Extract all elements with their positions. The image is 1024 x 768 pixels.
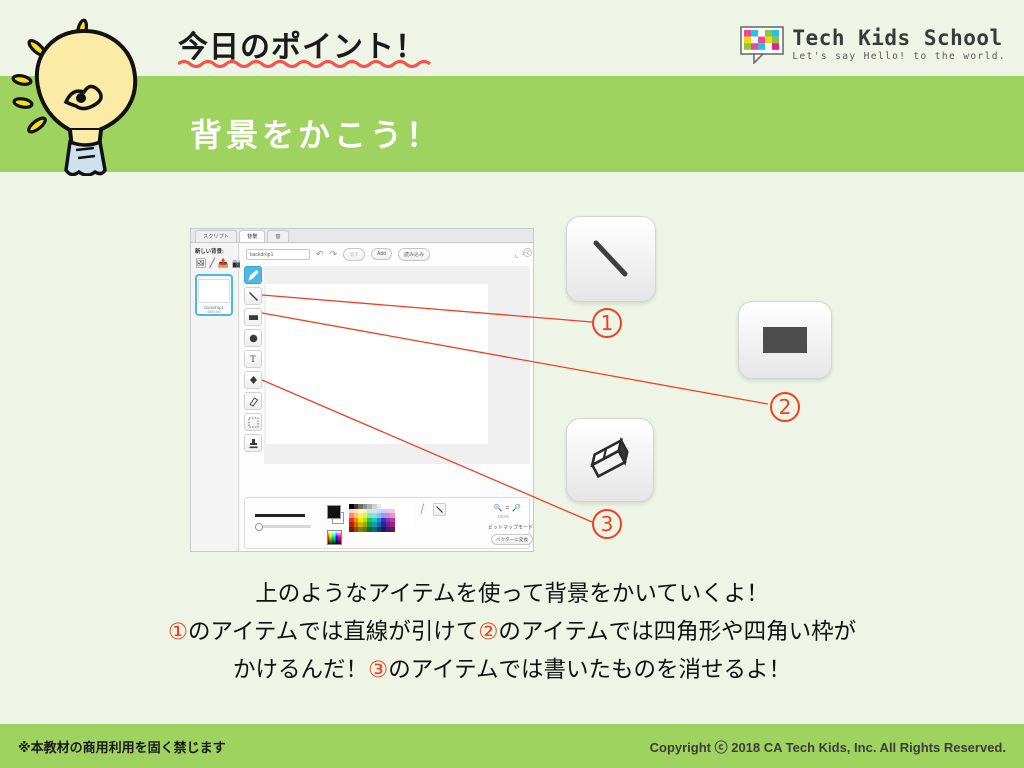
color-picker-gradient[interactable] <box>327 530 342 545</box>
costume-name-input[interactable]: backdrop1 <box>246 249 310 260</box>
line-tool-icon <box>583 231 639 287</box>
scratch-tab-row: スクリプト 背景 音 <box>191 229 533 243</box>
new-backdrop-icon-row: 🖼 ╱ 📤 📷 <box>195 258 234 269</box>
thumbnail-image <box>198 279 230 303</box>
flip-horizontal-icon[interactable]: ◟ <box>515 250 518 259</box>
undo-icon[interactable]: ↶ <box>316 249 324 260</box>
clear-button[interactable]: 消す <box>343 248 365 261</box>
line-style-button[interactable] <box>433 503 446 516</box>
footer-band: ※本教材の商用利用を固く禁じます Copyright ⓒ 2018 CA Tec… <box>0 724 1024 768</box>
slide-heading: 背景をかこう！ <box>190 110 442 156</box>
bitmap-mode-label: ビットマップモード <box>488 524 533 531</box>
thumbnail-size: 480x360 <box>207 310 221 314</box>
tab-sounds[interactable]: 音 <box>267 230 288 242</box>
paint-editor-pane: ? backdrop1 ↶ ↷ 消す Add 読み込み ◟ ◠ <box>240 244 534 552</box>
eyedropper-icon[interactable]: ╱ <box>419 503 431 515</box>
rectangle-tool-icon <box>755 318 815 362</box>
stroke-preview <box>255 514 305 517</box>
zoom-reset-icon[interactable]: = <box>505 505 509 512</box>
body-ref-2: ② <box>478 619 498 644</box>
stroke-width-control[interactable] <box>255 514 311 528</box>
brush-tool[interactable] <box>244 266 262 284</box>
tab-scripts[interactable]: スクリプト <box>195 230 237 242</box>
upload-icon[interactable]: 📤 <box>218 258 229 269</box>
callout-number-1: 1 <box>592 308 622 338</box>
paint-bottom-bar: ╱ 🔍 = 🔎 100% ビットマップモード ベクターに変換 <box>244 497 530 549</box>
callout-card-line-tool <box>566 216 656 302</box>
stroke-slider[interactable] <box>255 525 311 528</box>
redo-icon[interactable]: ↷ <box>330 249 338 260</box>
line-tool[interactable] <box>244 287 262 305</box>
body-line-2-d: のアイテムでは四角形や四角い枠が <box>498 619 856 644</box>
help-icon[interactable]: ? <box>523 248 532 257</box>
paint-canvas[interactable] <box>266 284 488 444</box>
body-line-3: かけるんだ！③のアイテムでは書いたものを消せるよ！ <box>0 651 1024 689</box>
add-button[interactable]: Add <box>371 248 392 260</box>
zoom-out-icon[interactable]: 🔍 <box>493 504 502 512</box>
paint-icon[interactable]: ╱ <box>209 258 214 269</box>
brand-logo: Tech Kids School Let's say Hello! to the… <box>740 26 1006 64</box>
body-line-2-b: のアイテムでは直線が引けて <box>188 619 478 644</box>
ellipse-tool[interactable] <box>244 329 262 347</box>
tool-palette: T <box>244 266 262 452</box>
callout-number-3: 3 <box>592 509 622 539</box>
rectangle-tool[interactable] <box>244 308 262 326</box>
zoom-in-icon[interactable]: 🔎 <box>512 504 521 512</box>
speech-bubble-pixel-icon <box>740 26 784 64</box>
body-line-1: 上のようなアイテムを使って背景をかいていくよ！ <box>0 575 1024 613</box>
fill-tool[interactable] <box>244 371 262 389</box>
callout-card-eraser-tool <box>566 418 654 502</box>
text-tool[interactable]: T <box>244 350 262 368</box>
logo-tagline: Let's say Hello! to the world. <box>792 52 1006 62</box>
title-underline-wave <box>178 58 432 68</box>
scratch-paint-editor-screenshot: スクリプト 背景 音 新しい背景: 🖼 ╱ 📤 📷 1 backdrop1 48… <box>190 228 534 552</box>
footer-copyright: Copyright ⓒ 2018 CA Tech Kids, Inc. All … <box>650 737 1006 756</box>
callout-number-2: 2 <box>770 392 800 422</box>
thumbnail-index: 1 <box>199 276 201 280</box>
footer-notice: ※本教材の商用利用を固く禁じます <box>18 737 226 756</box>
stamp-tool[interactable] <box>244 434 262 452</box>
select-tool[interactable] <box>244 413 262 431</box>
backdrop-thumbnail[interactable]: 1 backdrop1 480x360 <box>195 274 233 316</box>
logo-name: Tech Kids School <box>792 28 1006 49</box>
paint-toolbar: backdrop1 ↶ ↷ 消す Add 読み込み ◟ ◠ <box>240 244 534 264</box>
primary-color-swatch[interactable] <box>327 505 341 519</box>
backdrop-list-pane: 新しい背景: 🖼 ╱ 📤 📷 1 backdrop1 480x360 <box>191 244 239 552</box>
body-ref-3: ③ <box>368 657 388 682</box>
body-ref-1: ① <box>168 619 188 644</box>
library-icon[interactable]: 🖼 <box>195 258 206 269</box>
body-text: 上のようなアイテムを使って背景をかいていくよ！ ①のアイテムでは直線が引けて②の… <box>0 575 1024 689</box>
tab-backdrops[interactable]: 背景 <box>239 230 265 242</box>
body-line-3-a: かけるんだ！ <box>233 657 368 682</box>
new-backdrop-label: 新しい背景: <box>195 247 234 255</box>
zoom-controls[interactable]: 🔍 = 🔎 <box>493 504 521 512</box>
callout-card-rectangle-tool <box>738 301 832 379</box>
eraser-tool[interactable] <box>244 392 262 410</box>
convert-to-vector-button[interactable]: ベクターに変換 <box>491 534 533 545</box>
eraser-tool-icon <box>582 432 638 488</box>
import-button[interactable]: 読み込み <box>398 248 430 261</box>
color-palette[interactable] <box>349 504 413 532</box>
palette-swatch[interactable] <box>409 527 414 532</box>
lightbulb-icon <box>4 8 164 176</box>
zoom-level: 100% <box>497 514 509 519</box>
body-line-2: ①のアイテムでは直線が引けて②のアイテムでは四角形や四角い枠が <box>0 613 1024 651</box>
body-line-3-c: のアイテムでは書いたものを消せるよ！ <box>388 657 791 682</box>
